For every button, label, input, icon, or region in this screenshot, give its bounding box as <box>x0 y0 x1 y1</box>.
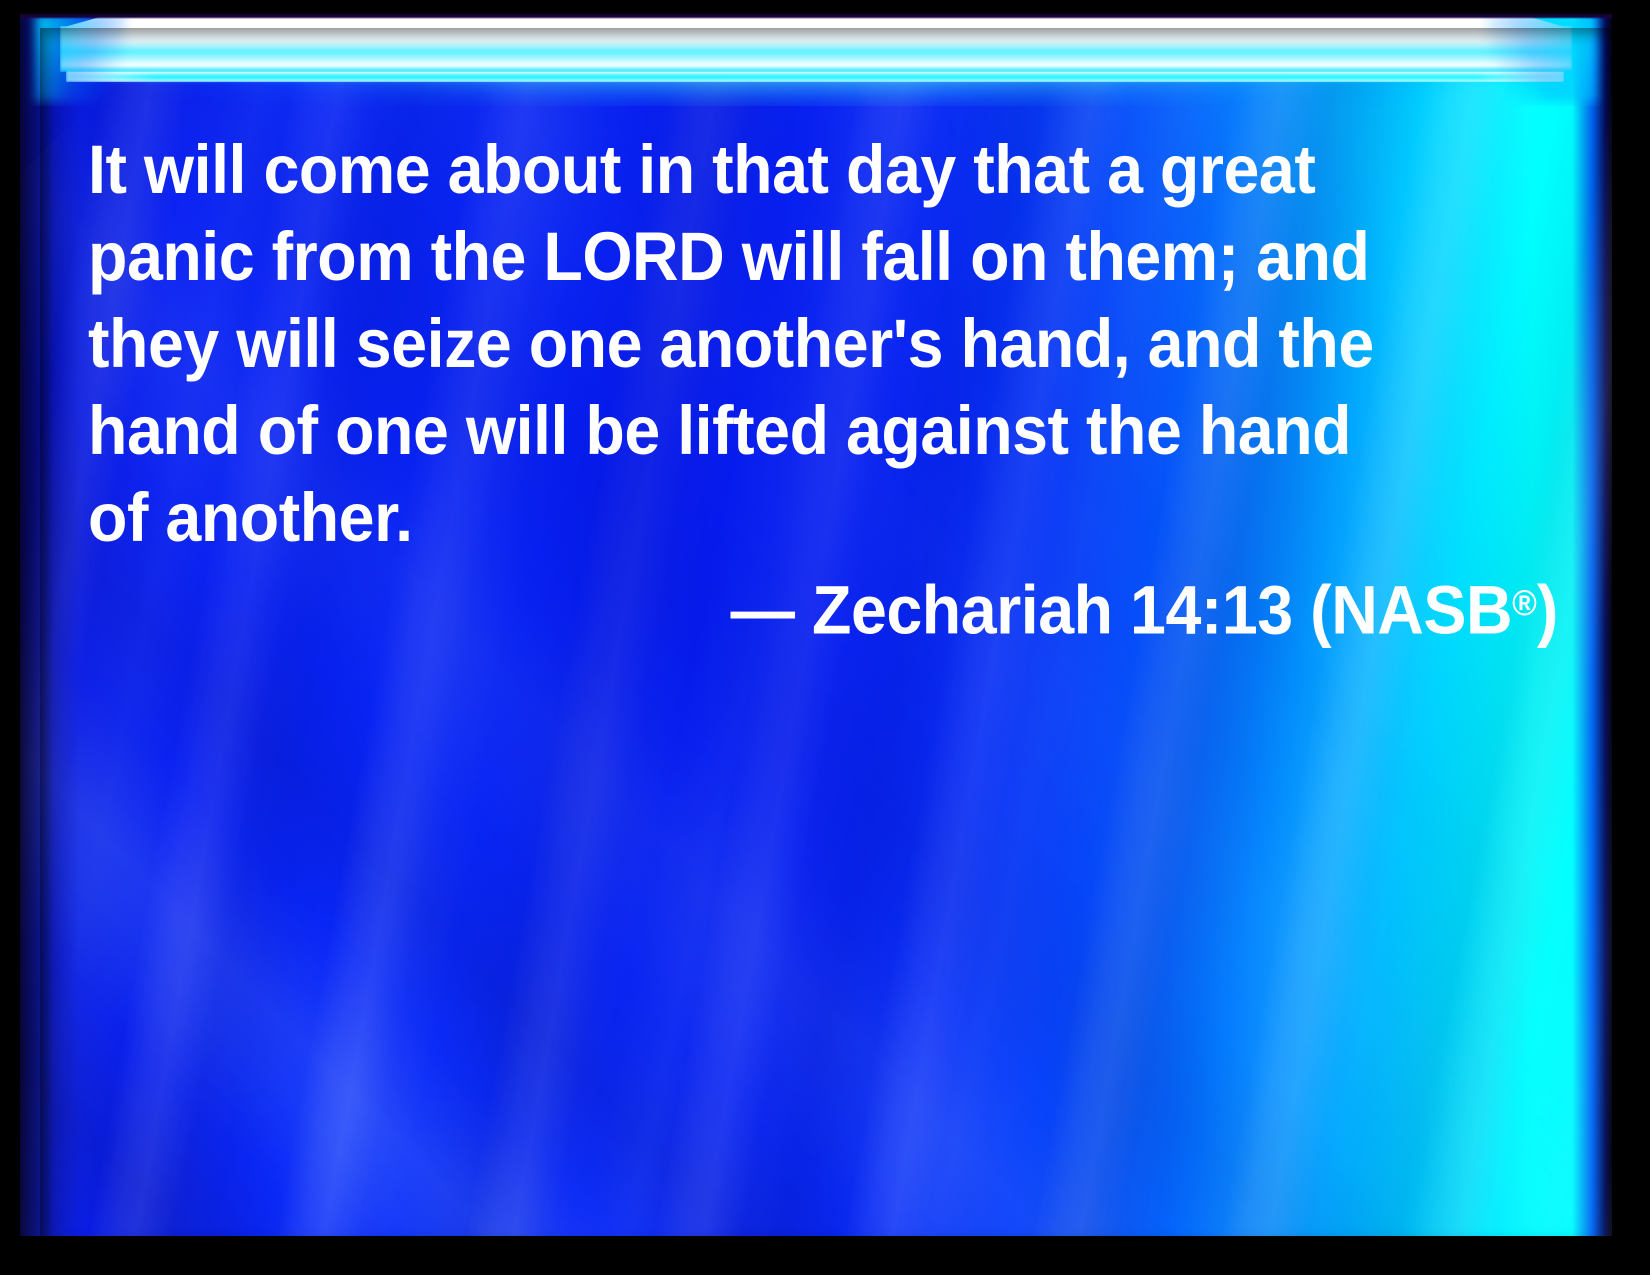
verse-line-5: of another. <box>88 474 1462 561</box>
verse-line-2: panic from the LORD will fall on them; a… <box>88 213 1462 300</box>
verse-line-4: hand of one will be lifted against the h… <box>88 387 1462 474</box>
citation-line: — Zechariah 14:13 (NASB®) <box>731 560 1558 654</box>
top-glow-bar <box>20 14 1612 106</box>
verse-citation: — Zechariah 14:13 (NASB®) <box>88 560 1564 654</box>
frame-border-top <box>0 0 1650 14</box>
slide-canvas: It will come about in that day that a gr… <box>0 0 1650 1275</box>
frame-border-right <box>1612 0 1650 1275</box>
top-glow-right-edge <box>1486 14 1596 102</box>
frame-border-bottom <box>0 1236 1650 1275</box>
top-glow-underline <box>66 74 1566 80</box>
verse-line-1: It will come about in that day that a gr… <box>88 126 1462 213</box>
verse-slide: It will come about in that day that a gr… <box>20 14 1612 1236</box>
verse-text: It will come about in that day that a gr… <box>88 126 1558 561</box>
verse-line-3: they will seize one another's hand, and … <box>88 300 1462 387</box>
registered-trademark-icon: ® <box>1512 583 1537 623</box>
top-hairline <box>20 14 1612 19</box>
top-glow-left-edge <box>36 14 126 102</box>
citation-reference: — Zechariah 14:13 (NASB <box>731 572 1513 649</box>
citation-close-paren: ) <box>1537 572 1558 649</box>
frame-border-left <box>0 0 20 1275</box>
background-left-shade <box>20 14 80 1236</box>
top-glow-cyan-core <box>60 26 1572 72</box>
